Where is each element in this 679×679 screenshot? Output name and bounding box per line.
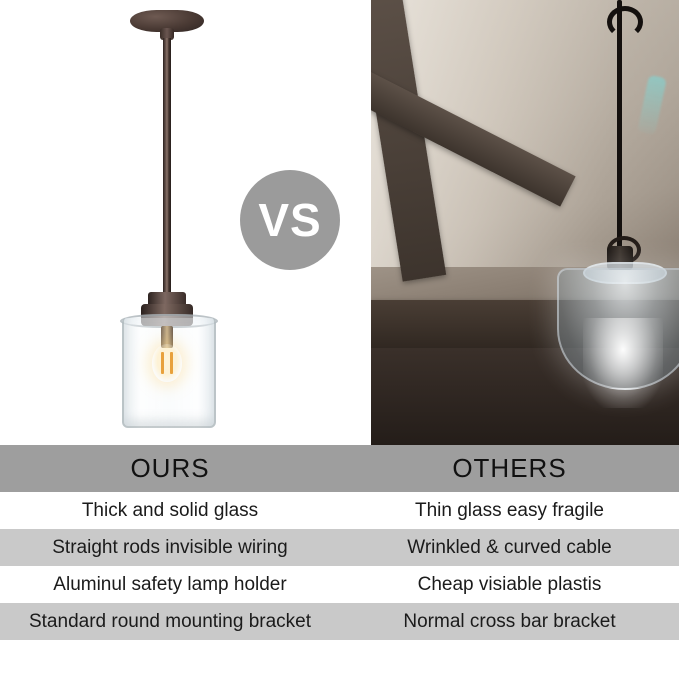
others-feature: Wrinkled & curved cable xyxy=(340,529,679,566)
others-feature: Cheap visiable plastis xyxy=(340,566,679,603)
filament-line xyxy=(170,352,173,374)
curved-cable-kink xyxy=(607,6,643,38)
image-comparison-area: VS xyxy=(0,0,679,445)
comparison-graphic: VS OURS OTHERS Thick and solid glass xyxy=(0,0,679,679)
others-feature: Thin glass easy fragile xyxy=(340,492,679,529)
wrinkled-cable xyxy=(617,0,622,250)
filament-bulb-icon xyxy=(152,344,182,382)
feature-comparison-table: OURS OTHERS Thick and solid glass Thin g… xyxy=(0,445,679,679)
vs-badge-label: VS xyxy=(258,193,321,247)
ours-feature: Standard round mounting bracket xyxy=(0,603,340,640)
table-row: Thick and solid glass Thin glass easy fr… xyxy=(0,492,679,529)
straight-rod xyxy=(163,38,171,296)
table-row: Aluminul safety lamp holder Cheap visiab… xyxy=(0,566,679,603)
bulb-glow xyxy=(583,318,663,408)
table-header-row: OURS OTHERS xyxy=(0,445,679,492)
ours-feature: Thick and solid glass xyxy=(0,492,340,529)
table-row: Standard round mounting bracket Normal c… xyxy=(0,603,679,640)
table-row: Straight rods invisible wiring Wrinkled … xyxy=(0,529,679,566)
ours-feature: Aluminul safety lamp holder xyxy=(0,566,340,603)
vs-badge: VS xyxy=(240,170,340,270)
ours-feature: Straight rods invisible wiring xyxy=(0,529,340,566)
others-product-photo xyxy=(371,0,679,445)
others-feature: Normal cross bar bracket xyxy=(340,603,679,640)
header-ours: OURS xyxy=(0,445,340,492)
filament-line xyxy=(161,352,164,374)
header-others: OTHERS xyxy=(340,445,679,492)
